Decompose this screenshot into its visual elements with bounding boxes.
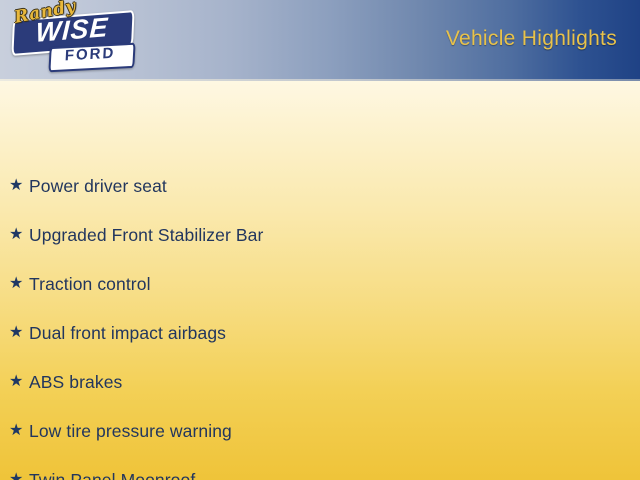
list-item: ★ Dual front impact airbags: [9, 320, 226, 346]
header-banner: WISE Randy FORD Vehicle Highlights: [0, 0, 640, 79]
feature-label: Traction control: [29, 274, 151, 294]
star-icon: ★: [9, 325, 29, 341]
feature-label: ABS brakes: [29, 372, 122, 392]
list-item: ★ ABS brakes: [9, 369, 122, 395]
page-title: Vehicle Highlights: [446, 27, 617, 51]
star-icon: ★: [9, 374, 29, 390]
star-icon: ★: [9, 178, 29, 194]
list-item: ★ Upgraded Front Stabilizer Bar: [9, 222, 263, 248]
dealer-logo: WISE Randy FORD: [2, 0, 142, 79]
feature-label: Twin Panel Moonroof: [29, 470, 195, 480]
list-item: ★ Power driver seat: [9, 173, 167, 199]
star-icon: ★: [9, 276, 29, 292]
feature-list: ★ Power driver seat ★ Upgraded Front Sta…: [0, 79, 640, 480]
star-icon: ★: [9, 227, 29, 243]
feature-label: Low tire pressure warning: [29, 421, 232, 441]
feature-label: Upgraded Front Stabilizer Bar: [29, 225, 263, 245]
star-icon: ★: [9, 423, 29, 439]
feature-label: Power driver seat: [29, 176, 167, 196]
logo-ford-text: FORD: [49, 43, 132, 68]
list-item: ★ Twin Panel Moonroof: [9, 467, 195, 480]
star-icon: ★: [9, 472, 29, 480]
list-item: ★ Low tire pressure warning: [9, 418, 232, 444]
list-item: ★ Traction control: [9, 271, 151, 297]
vehicle-highlights-slide: WISE Randy FORD Vehicle Highlights ★ Pow…: [0, 0, 640, 480]
feature-label: Dual front impact airbags: [29, 323, 226, 343]
